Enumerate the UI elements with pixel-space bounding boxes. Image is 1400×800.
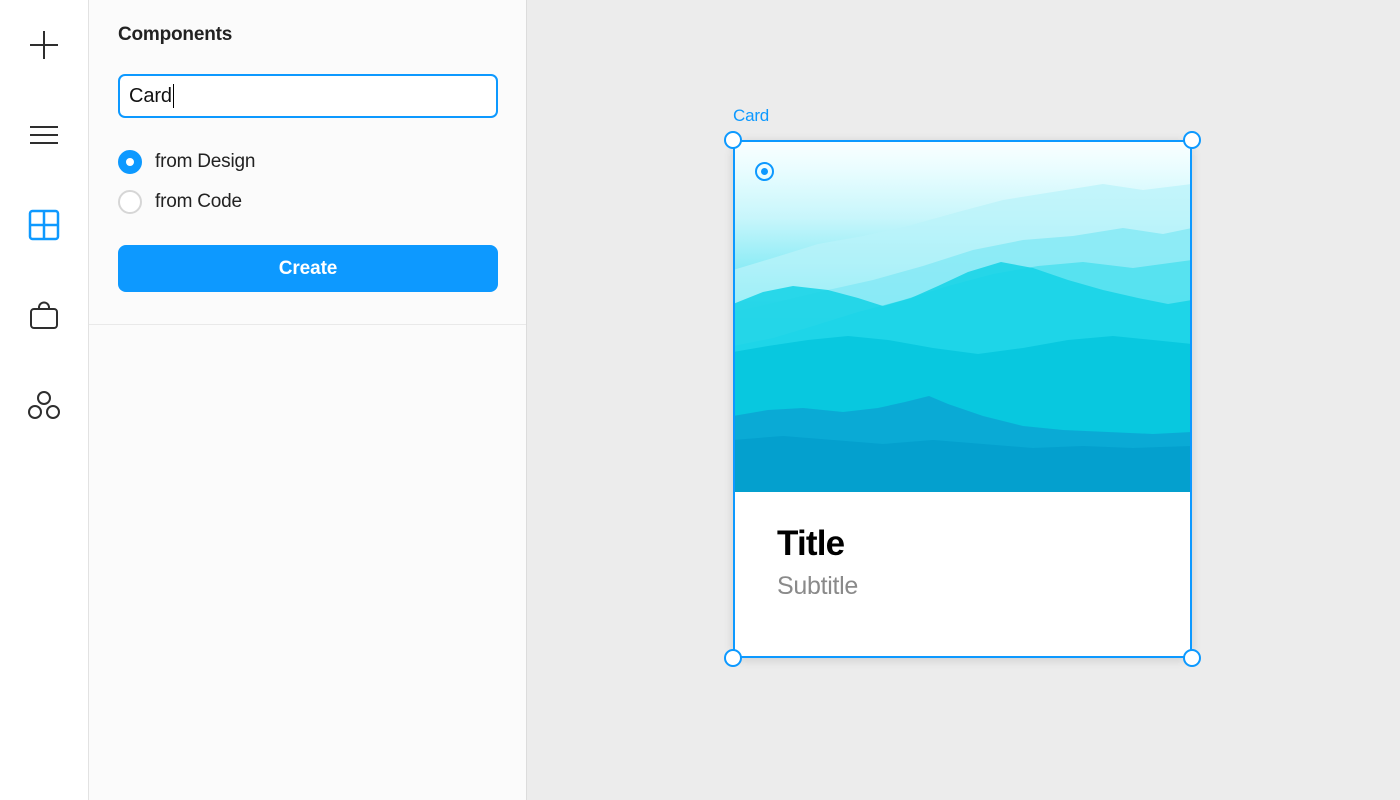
radio-option-from-design[interactable]: from Design: [118, 150, 255, 174]
menu-icon: [28, 123, 60, 147]
icon-rail: [0, 0, 89, 800]
radio-option-from-code[interactable]: from Code: [118, 190, 242, 214]
create-button[interactable]: Create: [118, 245, 498, 292]
card-component[interactable]: Title Subtitle: [733, 140, 1192, 658]
rail-item-menu[interactable]: [0, 107, 88, 163]
rail-item-team[interactable]: [0, 377, 88, 433]
mountain-illustration: [733, 140, 1192, 492]
create-component-form: Components Card from Design from Code Cr…: [89, 0, 526, 325]
card-text-block: Title Subtitle: [733, 492, 1192, 599]
resize-handle-bottom-left[interactable]: [724, 649, 742, 667]
components-panel: Components Card from Design from Code Cr…: [89, 0, 527, 800]
text-caret: [173, 84, 175, 108]
resize-handle-top-right[interactable]: [1183, 131, 1201, 149]
card-media-image: [733, 140, 1192, 492]
card-surface: Title Subtitle: [733, 140, 1192, 658]
radio-label-from-code: from Code: [155, 191, 242, 213]
page-title: Components: [118, 24, 232, 46]
card-title: Title: [777, 526, 1148, 563]
radio-selected-icon: [118, 150, 142, 174]
card-subtitle: Subtitle: [777, 573, 1148, 599]
component-name-input[interactable]: Card: [118, 74, 498, 118]
rail-item-new[interactable]: [0, 17, 88, 73]
rail-item-assets[interactable]: [0, 287, 88, 343]
people-icon: [27, 389, 61, 421]
selected-radio-icon: [755, 162, 774, 181]
selection-label: Card: [733, 106, 769, 126]
radio-unselected-icon: [118, 190, 142, 214]
grid-icon: [28, 209, 60, 241]
resize-handle-top-left[interactable]: [724, 131, 742, 149]
rail-item-components[interactable]: [0, 197, 88, 253]
bag-icon: [28, 299, 60, 331]
resize-handle-bottom-right[interactable]: [1183, 649, 1201, 667]
plus-icon: [27, 28, 61, 62]
app-root: Components Card from Design from Code Cr…: [0, 0, 1400, 800]
component-name-value: Card: [129, 85, 172, 108]
design-canvas[interactable]: Card Title S: [527, 0, 1400, 800]
radio-label-from-design: from Design: [155, 151, 255, 173]
